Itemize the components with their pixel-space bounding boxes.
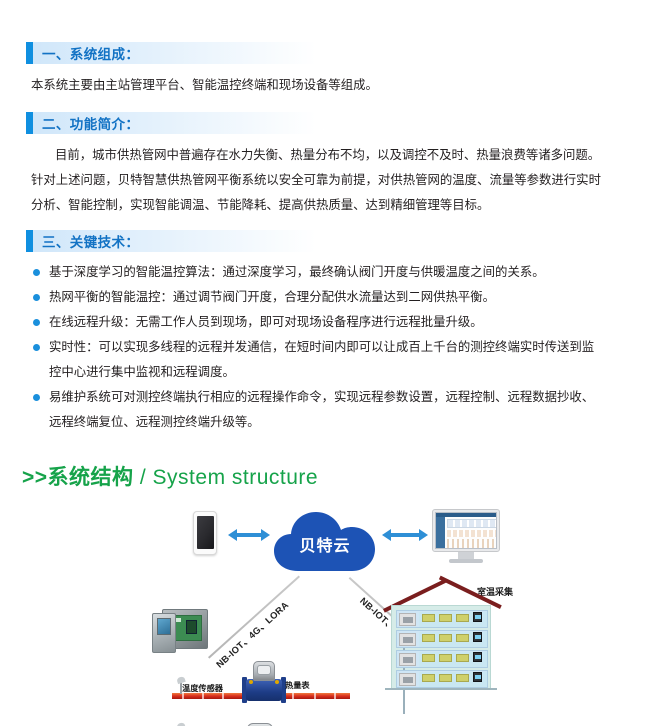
monitor-neck bbox=[458, 552, 474, 559]
arrow-shaft bbox=[236, 533, 262, 537]
cabinet-module bbox=[186, 620, 197, 634]
key-technology-list: 基于深度学习的智能温控算法：通过深度学习，最终确认阀门开度与供暖温度之间的关系。… bbox=[31, 260, 606, 435]
bullet-dot-icon bbox=[33, 319, 40, 326]
radiator-unit bbox=[456, 634, 469, 642]
title-prefix: >> bbox=[22, 466, 48, 489]
mobile-phone-icon bbox=[193, 511, 217, 555]
radiator-unit bbox=[422, 634, 435, 642]
screen-sidebar bbox=[436, 517, 445, 548]
arrow-head-right-icon bbox=[261, 529, 270, 541]
page-root: 一、系统组成： 本系统主要由主站管理平台、智能温控终端和现场设备等组成。 二、功… bbox=[0, 0, 650, 726]
room-thermostat-icon bbox=[473, 672, 482, 682]
list-item-text: 实时性：可以实现多线程的远程并发通信，在短时间内即可以让成百上千台的测控终端实时… bbox=[49, 340, 594, 379]
building-floor bbox=[396, 670, 488, 688]
bidirectional-arrow-right bbox=[382, 529, 428, 541]
radiator-unit bbox=[439, 614, 452, 622]
room-thermostat-icon bbox=[473, 612, 482, 622]
radiator-unit bbox=[422, 654, 435, 662]
radiator-unit bbox=[456, 674, 469, 682]
heading-accent-bar bbox=[26, 230, 33, 252]
bullet-dot-icon bbox=[33, 269, 40, 276]
floor-meter-box bbox=[399, 673, 416, 686]
list-item-text: 基于深度学习的智能温控算法：通过深度学习，最终确认阀门开度与供暖温度之间的关系。 bbox=[49, 265, 545, 279]
label-heat-meter: 热量表 bbox=[285, 679, 310, 691]
roof-right-slope bbox=[439, 576, 502, 609]
list-item-text: 热网平衡的智能温控：通过调节阀门开度，合理分配供水流量达到二网供热平衡。 bbox=[49, 290, 495, 304]
cloud-node: 贝特云 bbox=[272, 509, 378, 575]
building-floor bbox=[396, 610, 488, 628]
arrow-shaft bbox=[390, 533, 420, 537]
heading-accent-bar bbox=[26, 112, 33, 134]
list-item-text: 在线远程升级：无需工作人员到现场，即可对现场设备程序进行远程批量升级。 bbox=[49, 315, 483, 329]
radiator-unit bbox=[456, 654, 469, 662]
list-item-text: 易维护系统可对测控终端执行相应的远程操作命令，实现远程参数设置，远程控制、远程数… bbox=[49, 390, 594, 429]
section-body-system-composition: 本系统主要由主站管理平台、智能温控终端和现场设备等组成。 bbox=[31, 73, 608, 98]
section-heading-function-intro: 二、功能简介： bbox=[26, 112, 316, 134]
list-item: 在线远程升级：无需工作人员到现场，即可对现场设备程序进行远程批量升级。 bbox=[31, 310, 606, 335]
section-function-intro: 二、功能简介： 目前，城市供热管网中普遍存在水力失衡、热量分布不均，以及调控不及… bbox=[0, 98, 650, 218]
paragraph: 本系统主要由主站管理平台、智能温控终端和现场设备等组成。 bbox=[31, 73, 608, 98]
bullet-dot-icon bbox=[33, 394, 40, 401]
list-item: 实时性：可以实现多线程的远程并发通信，在短时间内即可以让成百上千台的测控终端实时… bbox=[31, 335, 606, 385]
page-title-system-structure: >>系统结构 / System structure bbox=[22, 461, 650, 491]
building-ground-line bbox=[385, 688, 497, 690]
title-en: System structure bbox=[153, 466, 319, 489]
section-heading-key-technology: 三、关键技术： bbox=[26, 230, 316, 252]
arrow-head-right-icon bbox=[419, 529, 428, 541]
heading-text: 三、关键技术： bbox=[33, 231, 139, 251]
floor-meter-box bbox=[399, 633, 416, 646]
building-floor bbox=[396, 650, 488, 668]
heading-text: 二、功能简介： bbox=[33, 113, 139, 133]
link-line-left bbox=[208, 576, 300, 659]
list-item: 基于深度学习的智能温控算法：通过深度学习，最终确认阀门开度与供暖温度之间的关系。 bbox=[31, 260, 606, 285]
radiator-unit bbox=[422, 674, 435, 682]
bullet-dot-icon bbox=[33, 294, 40, 301]
building-body bbox=[391, 605, 491, 689]
meter-dial bbox=[257, 665, 271, 675]
cabinet-hmi-screen bbox=[157, 618, 171, 635]
section-key-technology: 三、关键技术： 基于深度学习的智能温控算法：通过深度学习，最终确认阀门开度与供暖… bbox=[0, 218, 650, 435]
radiator-unit bbox=[439, 674, 452, 682]
heading-text: 一、系统组成： bbox=[33, 43, 139, 63]
screen-rows bbox=[447, 530, 497, 537]
system-structure-diagram: 贝特云 NB-IOT、4G、LORA bbox=[0, 501, 650, 726]
radiator-unit bbox=[439, 654, 452, 662]
monitor-base bbox=[449, 559, 483, 563]
monitor-screen bbox=[435, 512, 497, 549]
room-thermostat-icon bbox=[473, 652, 482, 662]
radiator-unit bbox=[456, 614, 469, 622]
bidirectional-arrow-left bbox=[228, 529, 270, 541]
meter-bolt bbox=[249, 680, 253, 684]
screen-chart bbox=[447, 539, 497, 548]
list-item: 易维护系统可对测控终端执行相应的远程操作命令，实现远程参数设置，远程控制、远程数… bbox=[31, 385, 606, 435]
phone-screen bbox=[197, 516, 214, 549]
floor-meter-box bbox=[399, 613, 416, 626]
room-thermostat-icon bbox=[473, 632, 482, 642]
label-temp-sensor-supply: 温度传感器 bbox=[182, 682, 223, 694]
heat-meter-icon bbox=[240, 661, 288, 707]
control-cabinet-icon bbox=[152, 609, 208, 653]
section-system-composition: 一、系统组成： 本系统主要由主站管理平台、智能温控终端和现场设备等组成。 bbox=[0, 0, 650, 98]
meter-bolt bbox=[275, 680, 279, 684]
title-cn: 系统结构 bbox=[48, 466, 134, 489]
desktop-monitor-icon bbox=[432, 509, 500, 565]
title-separator: / bbox=[134, 466, 153, 489]
section-body-function-intro: 目前，城市供热管网中普遍存在水力失衡、热量分布不均，以及调控不及时、热量浪费等诸… bbox=[31, 143, 608, 218]
bullet-dot-icon bbox=[33, 344, 40, 351]
residential-building-icon bbox=[385, 579, 497, 691]
floor-meter-box bbox=[399, 653, 416, 666]
monitor-bezel bbox=[432, 509, 500, 552]
heading-accent-bar bbox=[26, 42, 33, 64]
section-heading-system-composition: 一、系统组成： bbox=[26, 42, 316, 64]
paragraph: 目前，城市供热管网中普遍存在水力失衡、热量分布不均，以及调控不及时、热量浪费等诸… bbox=[31, 143, 608, 218]
cloud-label: 贝特云 bbox=[272, 509, 378, 575]
screen-table bbox=[447, 519, 497, 528]
link-label-left: NB-IOT、4G、LORA bbox=[212, 597, 291, 670]
radiator-unit bbox=[422, 614, 435, 622]
screen-topbar bbox=[436, 513, 496, 517]
radiator-unit bbox=[439, 634, 452, 642]
list-item: 热网平衡的智能温控：通过调节阀门开度，合理分配供水流量达到二网供热平衡。 bbox=[31, 285, 606, 310]
building-floor bbox=[396, 630, 488, 648]
